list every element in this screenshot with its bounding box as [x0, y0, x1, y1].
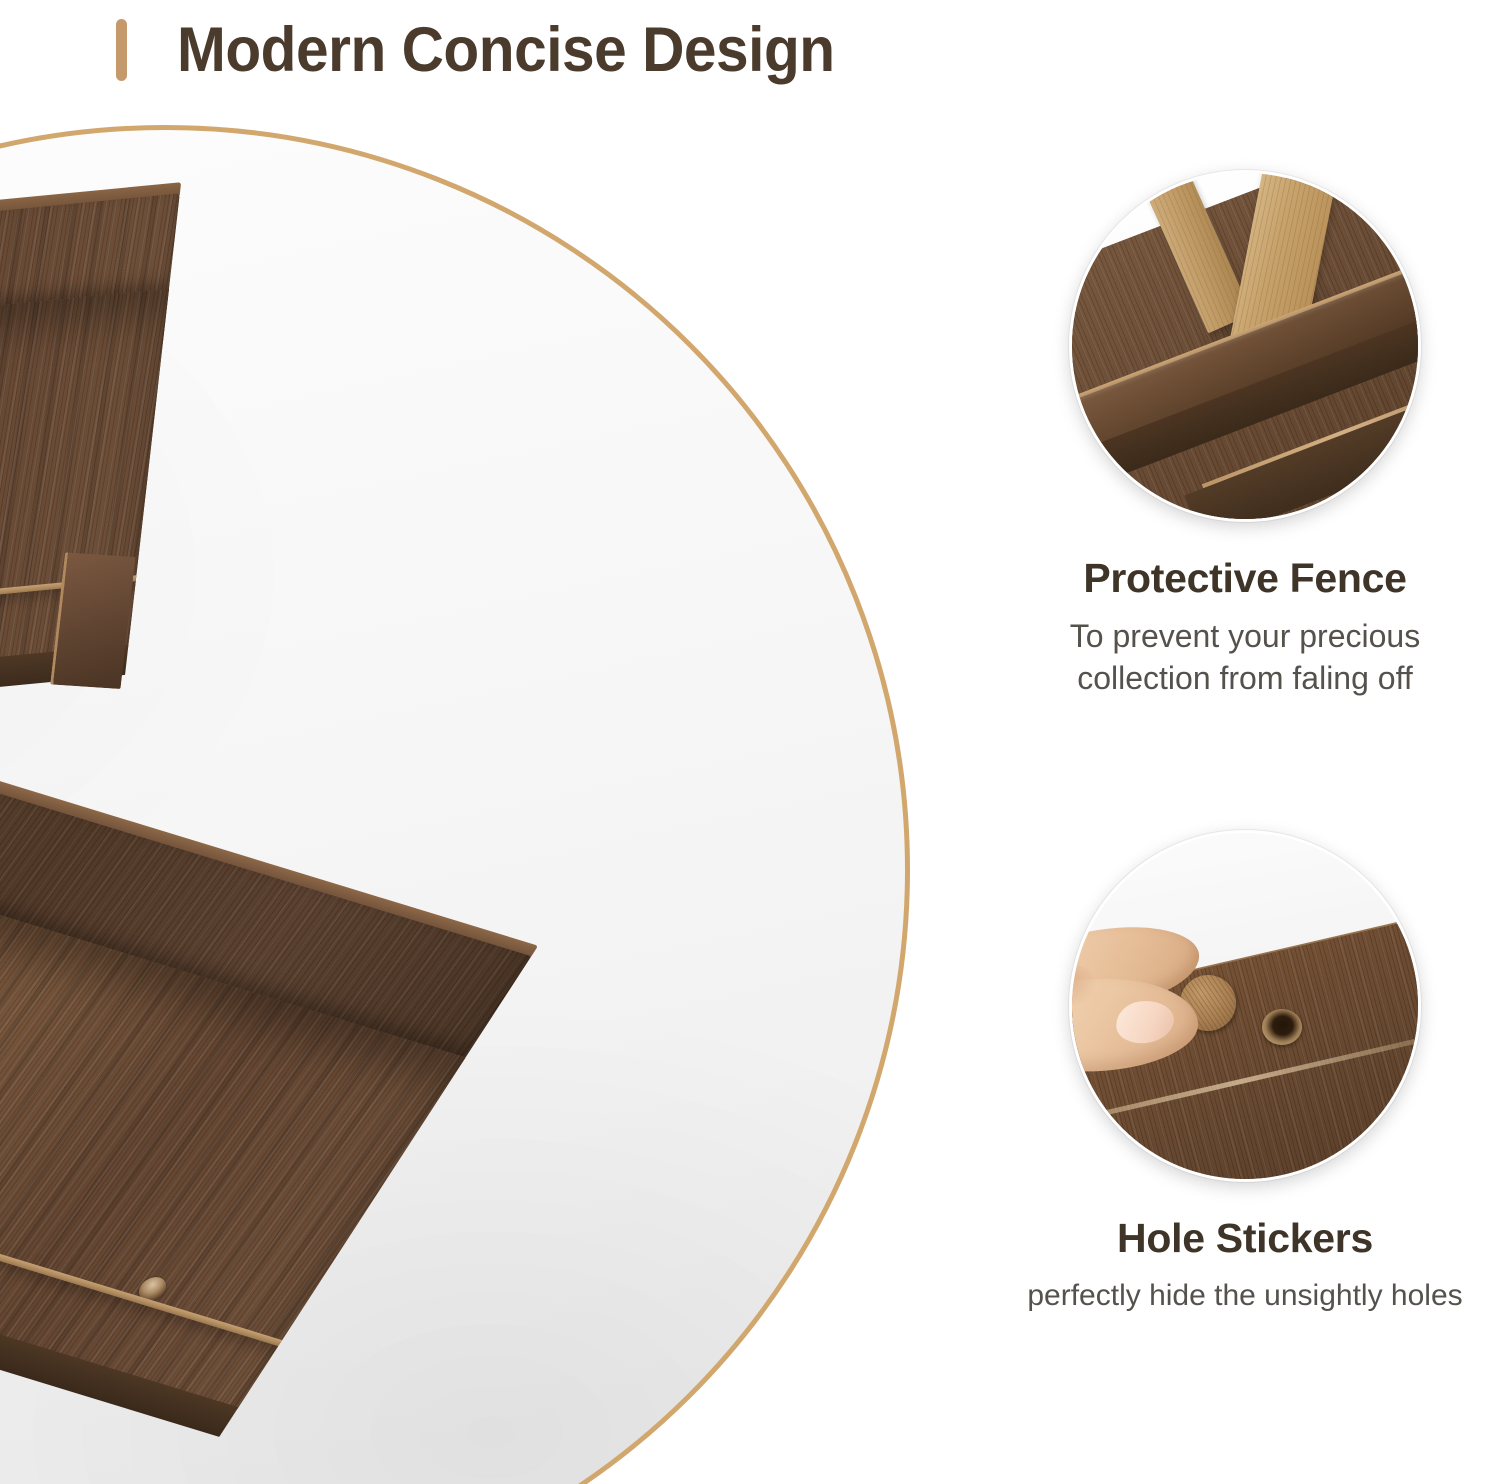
protective-fence-body: To prevent your precious collection from… [990, 616, 1500, 699]
feature-callout-panel: Protective Fence To prevent your preciou… [990, 130, 1500, 1420]
protective-fence-heading: Protective Fence [990, 556, 1500, 602]
upper-shelf-right-end-cap [50, 552, 135, 689]
protective-fence-photo-inner [1072, 173, 1418, 519]
hero-product-photo [0, 95, 990, 1484]
feature-protective-fence: Protective Fence To prevent your preciou… [990, 170, 1500, 699]
hole-stickers-body-line-1: perfectly hide the unsightly holes [992, 1276, 1498, 1315]
title-accent-bar [116, 19, 127, 81]
protective-fence-body-line-1: To prevent your precious [1004, 616, 1486, 658]
feature-hole-stickers: Hole Stickers perfectly hide the unsight… [990, 830, 1500, 1315]
page-header: Modern Concise Design [0, 0, 1500, 100]
protective-fence-body-line-2: collection from faling off [1004, 658, 1486, 700]
hole-stickers-photo [1069, 830, 1421, 1182]
hole-stickers-photo-inner [1072, 833, 1418, 1179]
gold-circle-frame [0, 125, 910, 1484]
hole-stickers-heading: Hole Stickers [990, 1216, 1500, 1262]
hole-stickers-body: perfectly hide the unsightly holes [990, 1276, 1500, 1315]
sticker-photo-screw-hole [1262, 1009, 1302, 1045]
protective-fence-photo [1069, 170, 1421, 522]
page-title: Modern Concise Design [177, 19, 835, 82]
